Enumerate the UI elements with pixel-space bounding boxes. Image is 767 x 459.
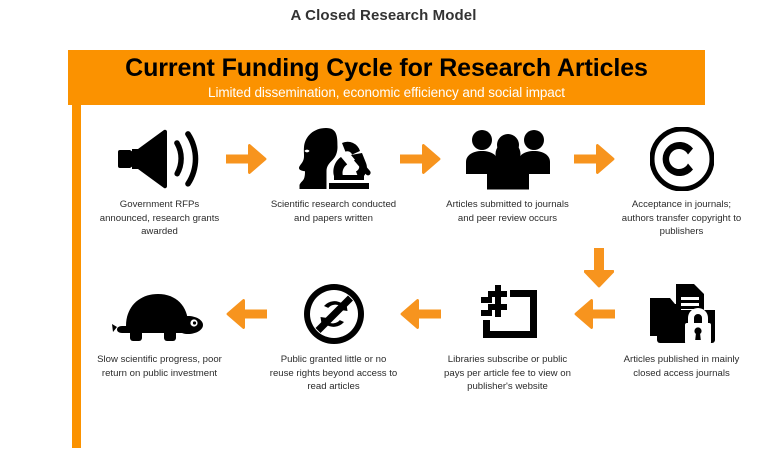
arrow-left-icon: [226, 281, 267, 347]
arrow-right-icon: [400, 126, 441, 192]
banner-tail-bar: [72, 105, 81, 448]
paywall-dollar-icon: [477, 281, 539, 347]
flow-step-closed-access-journals: Articles published in mainly closed acce…: [615, 281, 748, 380]
no-reuse-icon: [302, 281, 366, 347]
flow-step-slow-progress: Slow scientific progress, poor return on…: [93, 281, 226, 380]
flow-step-caption: Scientific research conducted and papers…: [270, 198, 398, 225]
flow-row-2: Slow scientific progress, poor return on…: [93, 281, 693, 394]
flow-row-1: Government RFPs announced, research gran…: [93, 126, 693, 239]
flow-step-no-reuse-rights: Public granted little or no reuse rights…: [267, 281, 400, 394]
turtle-icon: [112, 281, 208, 347]
arrow-right-icon: [226, 126, 267, 192]
banner: Current Funding Cycle for Research Artic…: [68, 50, 705, 105]
banner-subtitle: Limited dissemination, economic efficien…: [68, 83, 705, 102]
flow-step-copyright-transfer: Acceptance in journals; authors transfer…: [615, 126, 748, 239]
flow-step-government-rfps: Government RFPs announced, research gran…: [93, 126, 226, 239]
megaphone-announcement-icon: [118, 126, 202, 192]
arrow-left-icon: [574, 281, 615, 347]
flow-step-caption: Articles submitted to journals and peer …: [444, 198, 572, 225]
researcher-microscope-icon: [296, 126, 372, 192]
page-title: A Closed Research Model: [0, 7, 767, 24]
banner-title: Current Funding Cycle for Research Artic…: [68, 53, 705, 83]
flow-step-paywall-subscription: Libraries subscribe or public pays per a…: [441, 281, 574, 394]
flow-step-caption: Government RFPs announced, research gran…: [96, 198, 224, 239]
flow-step-caption: Acceptance in journals; authors transfer…: [618, 198, 746, 239]
flow-step-caption: Public granted little or no reuse rights…: [270, 353, 398, 394]
flow-step-articles-submitted: Articles submitted to journals and peer …: [441, 126, 574, 225]
arrow-left-icon: [400, 281, 441, 347]
flow-step-caption: Articles published in mainly closed acce…: [618, 353, 746, 380]
flow-step-caption: Libraries subscribe or public pays per a…: [444, 353, 572, 394]
closed-access-folder-lock-icon: [648, 281, 716, 347]
flow-step-scientific-research: Scientific research conducted and papers…: [267, 126, 400, 225]
arrow-right-icon: [574, 126, 615, 192]
copyright-icon: [650, 126, 714, 192]
people-group-icon: [465, 126, 551, 192]
flow-step-caption: Slow scientific progress, poor return on…: [96, 353, 224, 380]
